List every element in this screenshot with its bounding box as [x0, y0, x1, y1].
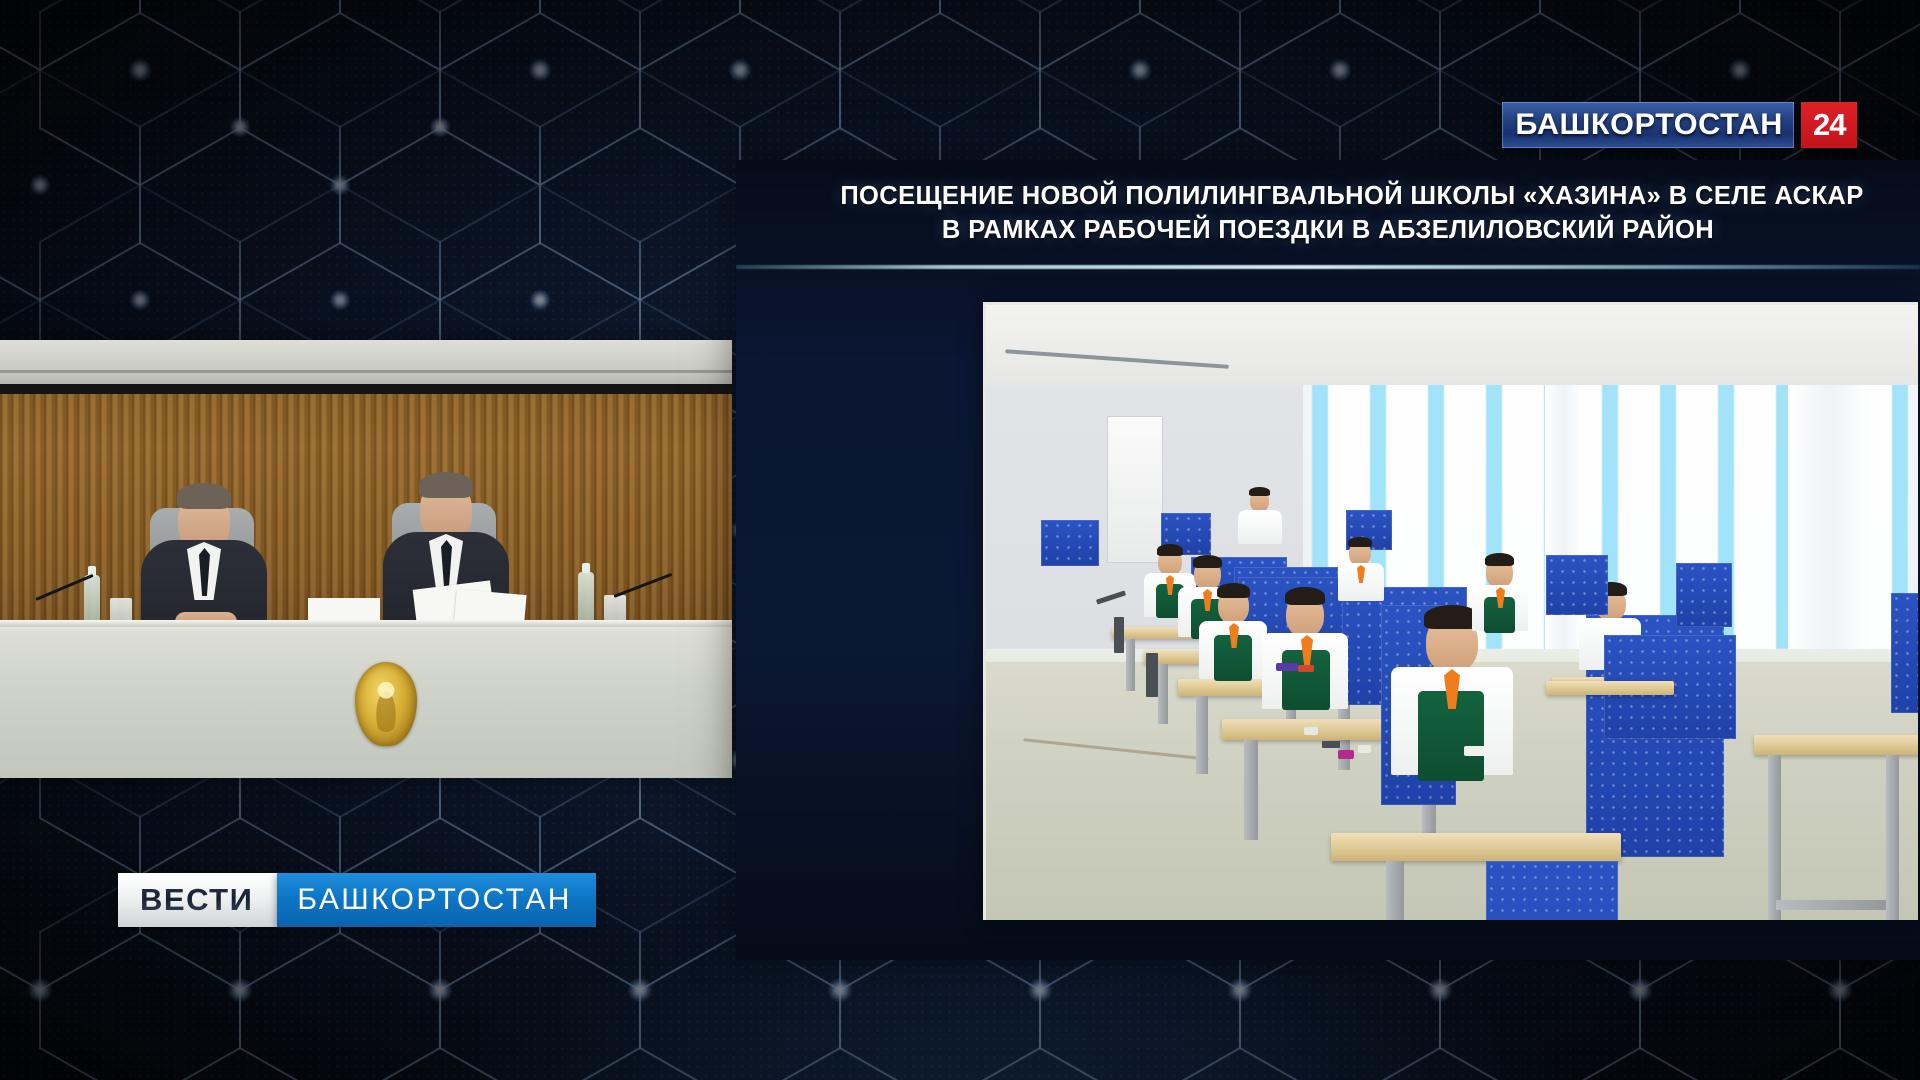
bench-part-purple	[1276, 663, 1298, 671]
bench-vise-1	[1114, 617, 1124, 653]
presidium-table	[0, 620, 732, 778]
bench-part-white	[1358, 745, 1371, 753]
water-bottle-right	[578, 572, 594, 626]
bench-part-pink	[1338, 750, 1354, 759]
headline-line-2: В РАМКАХ РАБОЧЕЙ ПОЕЗДКИ В АБЗЕЛИЛОВСКИЙ…	[742, 214, 1914, 248]
bench-tool-1	[1322, 741, 1340, 748]
bench-part-white-3	[1304, 727, 1318, 735]
wall-top-shadow	[0, 384, 732, 394]
channel-name: БАШКОРТОСТАН	[1515, 108, 1783, 142]
glass-right	[604, 595, 626, 623]
channel-number-block: 24	[1801, 102, 1857, 148]
ceiling-seam	[0, 370, 732, 373]
bench-part-white-2	[1464, 746, 1488, 756]
studio-meeting-feed[interactable]	[0, 340, 732, 778]
headline-divider	[736, 265, 1920, 269]
program-logo-vesti: ВЕСТИ	[140, 882, 253, 918]
program-logo[interactable]: ВЕСТИ БАШКОРТОСТАН	[118, 873, 596, 927]
hair-left	[177, 483, 231, 509]
program-logo-region: БАШКОРТОСТАН	[297, 883, 571, 917]
program-logo-right-block: БАШКОРТОСТАН	[277, 873, 595, 927]
bench-vise-2	[1146, 653, 1158, 697]
headline-line-1: ПОСЕЩЕНИЕ НОВОЙ ПОЛИЛИНГВАЛЬНОЙ ШКОЛЫ «Х…	[766, 180, 1920, 214]
hair-right	[419, 472, 473, 498]
classroom-ceiling	[986, 305, 1918, 385]
headline: ПОСЕЩЕНИЕ НОВОЙ ПОЛИЛИНГВАЛЬНОЙ ШКОЛЫ «Х…	[736, 180, 1920, 247]
classroom-door	[1107, 416, 1163, 564]
broadcast-screen: ПОСЕЩЕНИЕ НОВОЙ ПОЛИЛИНГВАЛЬНОЙ ШКОЛЫ «Х…	[0, 0, 1920, 1080]
channel-name-block: БАШКОРТОСТАН	[1502, 102, 1794, 148]
bench-part-red	[1298, 665, 1314, 672]
channel-logo[interactable]: БАШКОРТОСТАН 24	[1502, 102, 1857, 148]
channel-number: 24	[1813, 107, 1845, 143]
state-emblem-icon	[355, 662, 417, 746]
news-graphic-panel: ПОСЕЩЕНИЕ НОВОЙ ПОЛИЛИНГВАЛЬНОЙ ШКОЛЫ «Х…	[736, 160, 1920, 960]
school-workshop-photo[interactable]	[983, 302, 1918, 920]
program-logo-left-block: ВЕСТИ	[118, 873, 277, 927]
ceiling-band	[0, 340, 732, 384]
table-edge	[0, 620, 732, 627]
